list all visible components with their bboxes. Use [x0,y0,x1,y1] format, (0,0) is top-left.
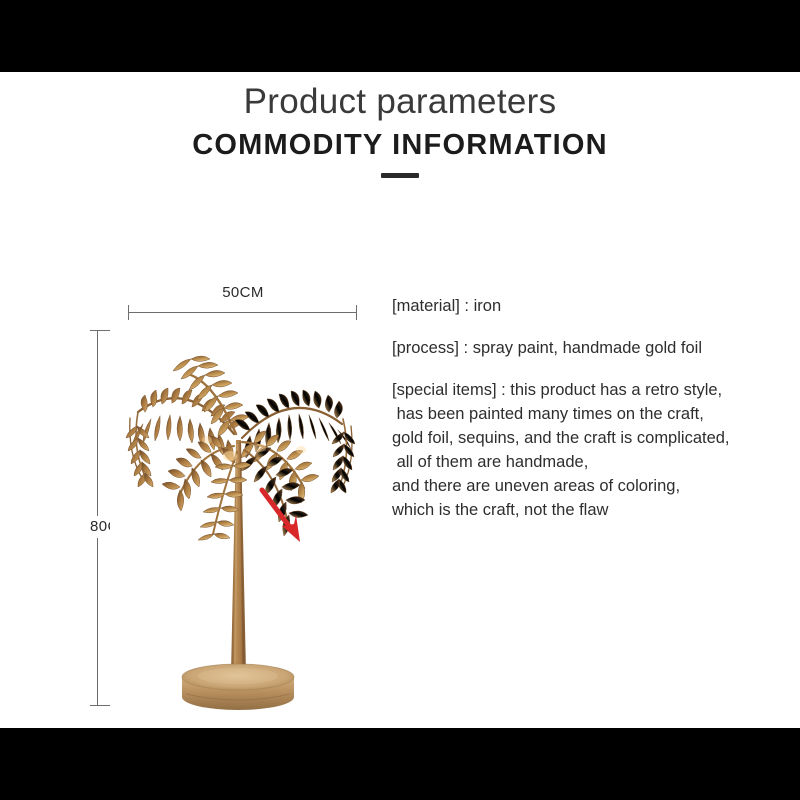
width-dimension-line [128,312,357,313]
spec-block-special-items: [special items] : this product has a ret… [392,378,792,522]
width-dimension-tick-left [128,305,129,320]
title-underline-accent [381,173,419,178]
letterbox-bar-bottom [0,728,800,800]
spec-line: [process] : spray paint, handmade gold f… [392,336,792,360]
spec-line: all of them are handmade, [392,450,792,474]
width-dimension-tick-right [356,305,357,320]
spec-line: has been painted many times on the craft… [392,402,792,426]
spec-block-material: [material] : iron [392,294,792,318]
spec-line: [special items] : this product has a ret… [392,378,792,402]
spec-sheet-canvas: Product parameters COMMODITY INFORMATION… [0,72,800,728]
spec-block-process: [process] : spray paint, handmade gold f… [392,336,792,360]
spec-line: which is the craft, not the flaw [392,498,792,522]
heading-group: Product parameters COMMODITY INFORMATION [0,72,800,178]
specification-text: [material] : iron [process] : spray pain… [392,294,792,522]
spec-line: gold foil, sequins, and the craft is com… [392,426,792,450]
page-subtitle: COMMODITY INFORMATION [0,126,800,164]
spec-line: and there are uneven areas of coloring, [392,474,792,498]
spec-line: [material] : iron [392,294,792,318]
width-dimension-label: 50CM [128,284,358,301]
page-title: Product parameters [0,80,800,124]
product-spec-page: Product parameters COMMODITY INFORMATION… [0,0,800,800]
product-image [110,322,375,717]
letterbox-bar-top [0,0,800,72]
